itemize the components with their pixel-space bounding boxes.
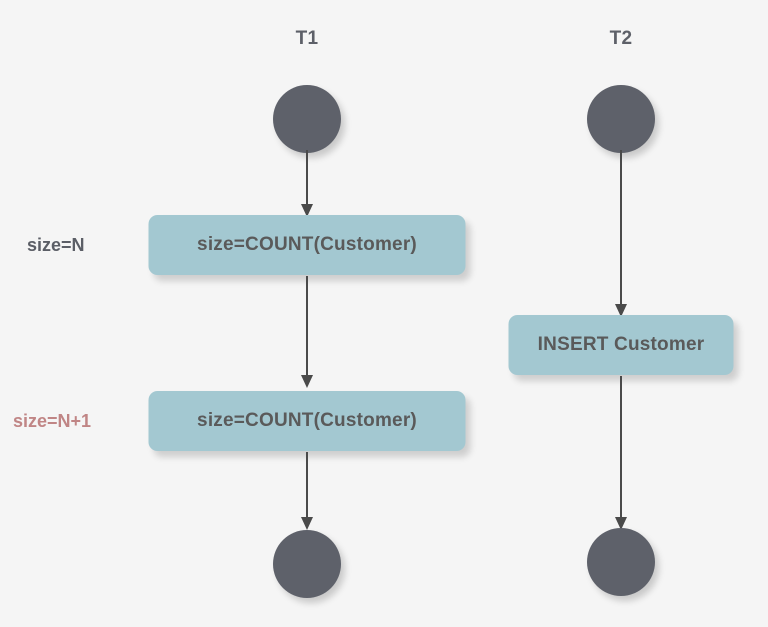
t1-action-label-2: size=COUNT(Customer) xyxy=(197,410,417,432)
t1-action-box-1[interactable]: size=COUNT(Customer) xyxy=(149,215,466,275)
lane-title-t2: T2 xyxy=(610,28,633,50)
t1-action-box-2[interactable]: size=COUNT(Customer) xyxy=(149,391,466,451)
t2-action-label-1: INSERT Customer xyxy=(538,334,705,356)
lane-title-t1: T1 xyxy=(296,28,319,50)
t1-start-node xyxy=(273,85,341,153)
t1-arrow-action1-to-action2 xyxy=(300,276,314,388)
t2-arrow-start-to-action1 xyxy=(614,150,628,317)
t1-arrow-action2-to-end xyxy=(300,452,314,530)
t1-arrow-start-to-action1 xyxy=(300,150,314,217)
t2-action-box-1[interactable]: INSERT Customer xyxy=(509,315,734,375)
diagram-canvas: T1 T2 size=N size=N+1 size=COUNT(Custome… xyxy=(0,0,768,627)
t1-action-label-1: size=COUNT(Customer) xyxy=(197,234,417,256)
t2-arrow-action1-to-end xyxy=(614,376,628,530)
annotation-size-n-plus-1: size=N+1 xyxy=(13,411,91,432)
annotation-size-n: size=N xyxy=(27,235,85,256)
t2-end-node xyxy=(587,528,655,596)
t2-start-node xyxy=(587,85,655,153)
t1-end-node xyxy=(273,530,341,598)
